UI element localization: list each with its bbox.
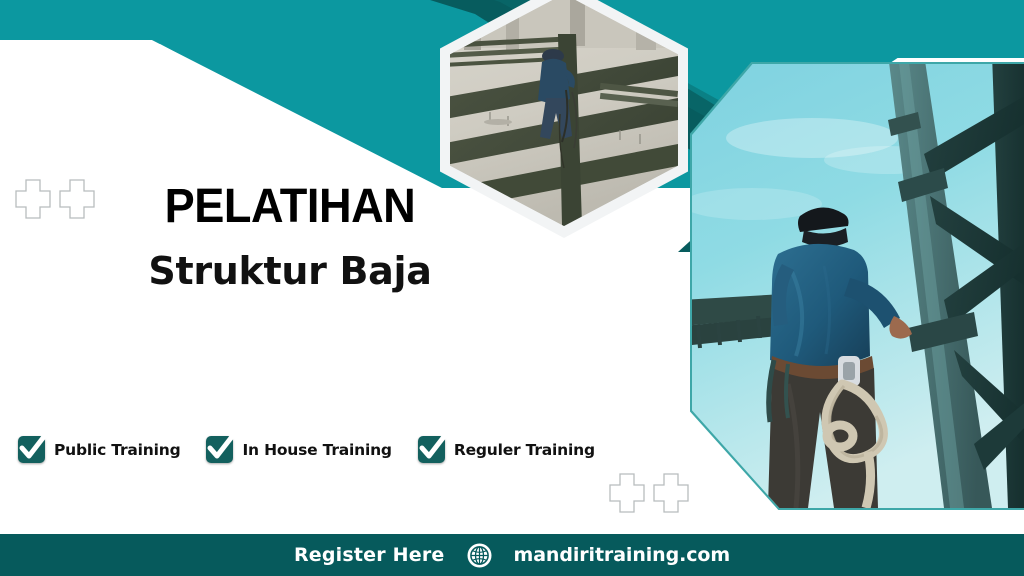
cross-icon — [652, 472, 690, 514]
training-type-badges: Public Training In House Training Regule… — [18, 436, 595, 463]
badge-in-house-training[interactable]: In House Training — [206, 436, 391, 463]
cross-icon — [608, 472, 646, 514]
cross-icon — [58, 178, 96, 220]
globe-icon — [467, 543, 492, 568]
badge-label: In House Training — [242, 441, 391, 459]
page-title: PELATIHAN — [17, 182, 562, 233]
website-url[interactable]: mandiritraining.com — [514, 544, 731, 566]
main-photo-image — [692, 64, 1024, 508]
badge-label: Reguler Training — [454, 441, 595, 459]
page-subtitle: Struktur Baja — [0, 251, 580, 293]
badge-public-training[interactable]: Public Training — [18, 436, 180, 463]
checkbox-checked-icon[interactable] — [18, 436, 45, 463]
poster-canvas: PELATIHAN Struktur Baja Public Training — [0, 0, 1024, 576]
badge-label: Public Training — [54, 441, 180, 459]
cross-decor-top-left — [14, 178, 96, 220]
register-here-cta[interactable]: Register Here — [294, 544, 445, 566]
footer-bar: Register Here mandiritraining.com — [0, 534, 1024, 576]
cross-icon — [14, 178, 52, 220]
badge-reguler-training[interactable]: Reguler Training — [418, 436, 595, 463]
checkbox-checked-icon[interactable] — [418, 436, 445, 463]
checkbox-checked-icon[interactable] — [206, 436, 233, 463]
main-photo-worker-climbing-steel-tower — [690, 62, 1024, 510]
cross-decor-bottom-center — [608, 472, 690, 514]
